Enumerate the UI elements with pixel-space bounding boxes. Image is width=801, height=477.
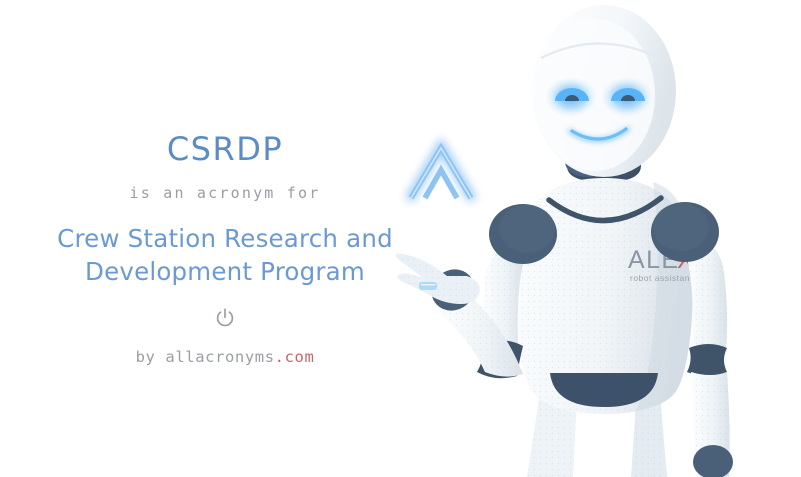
acronym-subtitle: is an acronym for [130,186,321,201]
robot-illustration: ALE X robot assistant [395,0,801,477]
attribution-tld: .com [275,348,315,366]
chevron-up-hologram-icon [409,146,473,200]
acronym-expansion-line-1: Crew Station Research and [57,223,393,256]
acronym-text-column: CSRDP is an acronym for Crew Station Res… [0,0,450,477]
acronym-expansion-line-2: Development Program [57,256,393,289]
attribution-text: by allacronyms.com [136,350,315,366]
acronym-title: CSRDP [167,133,283,165]
acronym-expansion: Crew Station Research and Development Pr… [57,223,393,288]
acronym-card: CSRDP is an acronym for Crew Station Res… [0,0,801,477]
attribution-prefix: by allacronyms [136,348,275,366]
robot-open-hand [396,254,480,304]
robot-badge-subtitle: robot assistant [630,273,693,283]
power-icon [214,307,236,329]
robot-head [532,5,676,182]
